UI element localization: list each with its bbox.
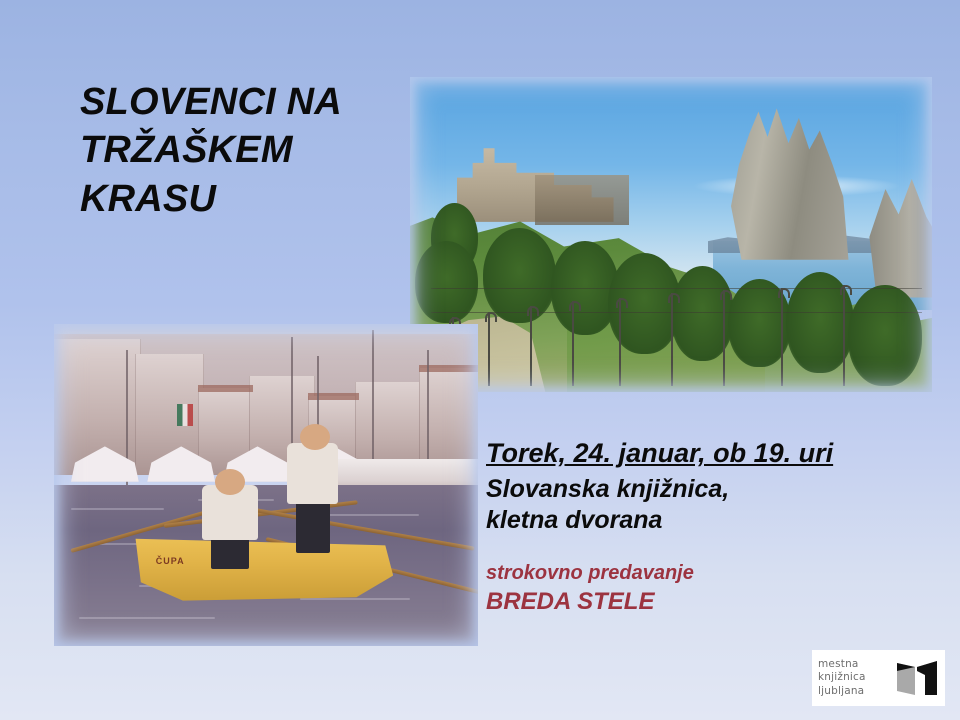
rower-head [215,469,245,495]
fence-wire [431,312,922,313]
roof [198,385,253,392]
fence-post [572,301,574,386]
library-logo: mestna knjižnica ljubljana [812,650,945,706]
castle-wing [535,175,629,225]
library-logo-mark [895,657,939,699]
fence-post [530,306,532,385]
italian-flag [177,404,193,426]
rower-head [300,424,330,450]
boat-name-label: ČUPA [156,556,185,566]
venue-line-2: kletna dvorana [486,505,936,536]
logo-line-2: knjižnica [818,671,895,684]
event-speaker: BREDA STELE [486,588,936,616]
event-info: Torek, 24. januar, ob 19. uri Slovanska … [486,438,936,616]
logo-line-3: ljubljana [818,685,895,698]
logo-wordmark: mestna knjižnica ljubljana [818,658,895,698]
fence-post [619,298,621,385]
venue-line-1: Slovanska knjižnica, [486,474,936,505]
logo-line-1: mestna [818,658,895,671]
photo-castle-landscape [410,77,932,392]
photo-cupa-boat: CONCORDIA ČUPA [54,324,478,646]
fence-post [671,293,673,386]
photo-boat-inner: CONCORDIA ČUPA [54,324,478,646]
fence-post [488,312,490,386]
photo-castle-inner [410,77,932,392]
page-title: SLOVENCI NA TRŽAŠKEM KRASU [80,78,410,223]
event-venue: Slovanska knjižnica, kletna dvorana [486,474,936,537]
event-kind: strokovno predavanje [486,562,936,585]
event-date: Torek, 24. januar, ob 19. uri [486,438,936,470]
rower-torso [287,443,338,504]
rower-legs [296,498,330,553]
fence-post [843,285,845,386]
presentation-slide: SLOVENCI NA TRŽAŠKEM KRASU [0,0,960,720]
fence-post [781,288,783,386]
fence-post [723,290,725,385]
fence [410,253,932,385]
